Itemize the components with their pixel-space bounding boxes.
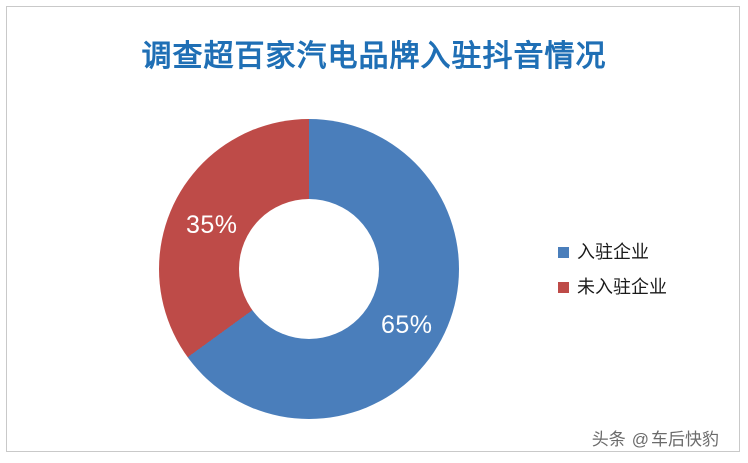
- chart-card: 调查超百家汽电品牌入驻抖音情况 35% 65% 入驻企业 未入驻企业 头条@车后…: [6, 6, 740, 452]
- legend-swatch-icon-not-joined: [558, 282, 569, 293]
- watermark-account: 车后快豹: [651, 430, 719, 449]
- slice-data-label-not-joined: 35%: [186, 211, 238, 240]
- chart-legend: 入驻企业 未入驻企业: [558, 243, 667, 313]
- at-icon: @: [632, 430, 649, 449]
- legend-item-not-joined[interactable]: 未入驻企业: [558, 278, 667, 296]
- watermark-source: 头条: [592, 430, 626, 449]
- legend-item-joined[interactable]: 入驻企业: [558, 243, 667, 261]
- legend-label-not-joined: 未入驻企业: [577, 278, 667, 296]
- legend-swatch-icon-joined: [558, 247, 569, 258]
- chart-title: 调查超百家汽电品牌入驻抖音情况: [7, 39, 741, 75]
- legend-label-joined: 入驻企业: [577, 243, 649, 261]
- donut-center-hole: [239, 199, 379, 339]
- donut-chart: 35% 65%: [159, 119, 459, 419]
- watermark: 头条@车后快豹: [7, 425, 719, 450]
- slice-data-label-joined: 65%: [381, 311, 433, 340]
